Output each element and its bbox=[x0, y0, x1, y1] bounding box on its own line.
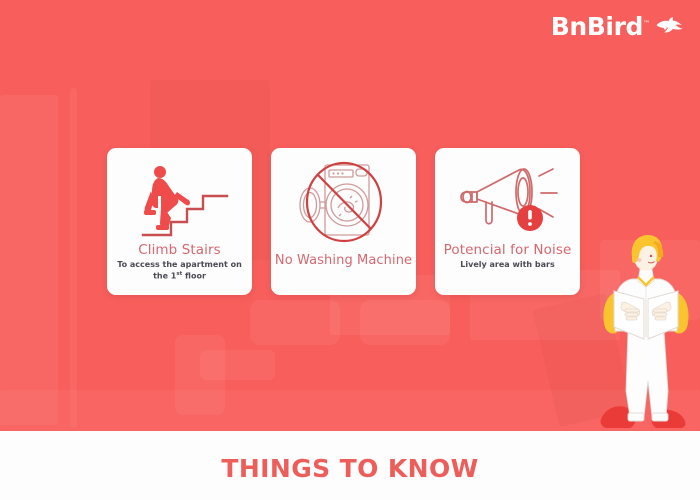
brand-logo[interactable]: BnBird™ bbox=[551, 8, 684, 41]
bird-icon bbox=[654, 8, 684, 41]
stairs-climb-icon bbox=[114, 160, 245, 242]
brand-name: BnBird™ bbox=[551, 8, 650, 39]
card-text-block: Potencial for Noise Lively area with bar… bbox=[442, 242, 573, 285]
card-potential-noise[interactable]: Potencial for Noise Lively area with bar… bbox=[435, 148, 580, 295]
card-title: Climb Stairs bbox=[138, 242, 221, 258]
no-washing-machine-icon bbox=[278, 160, 409, 242]
card-text-block: Climb Stairs To access the apartment on … bbox=[114, 242, 245, 285]
card-text-block: No Washing Machine bbox=[278, 242, 409, 285]
megaphone-noise-icon bbox=[442, 160, 573, 242]
page-title: THINGS TO KNOW bbox=[221, 454, 478, 483]
card-subtitle: To access the apartment on the 1st floor bbox=[114, 260, 245, 282]
warning-badge bbox=[517, 205, 543, 231]
info-cards-row: Climb Stairs To access the apartment on … bbox=[0, 148, 700, 295]
card-title: No Washing Machine bbox=[275, 253, 412, 269]
card-no-washing-machine[interactable]: No Washing Machine bbox=[271, 148, 416, 295]
trademark-symbol: ™ bbox=[643, 20, 650, 28]
card-climb-stairs[interactable]: Climb Stairs To access the apartment on … bbox=[107, 148, 252, 295]
slide-canvas: BnBird™ bbox=[0, 0, 700, 500]
hero-red-panel: BnBird™ bbox=[0, 0, 700, 431]
footer-band: THINGS TO KNOW bbox=[0, 431, 700, 500]
card-title: Potencial for Noise bbox=[444, 242, 572, 258]
card-subtitle: Lively area with bars bbox=[460, 260, 554, 271]
